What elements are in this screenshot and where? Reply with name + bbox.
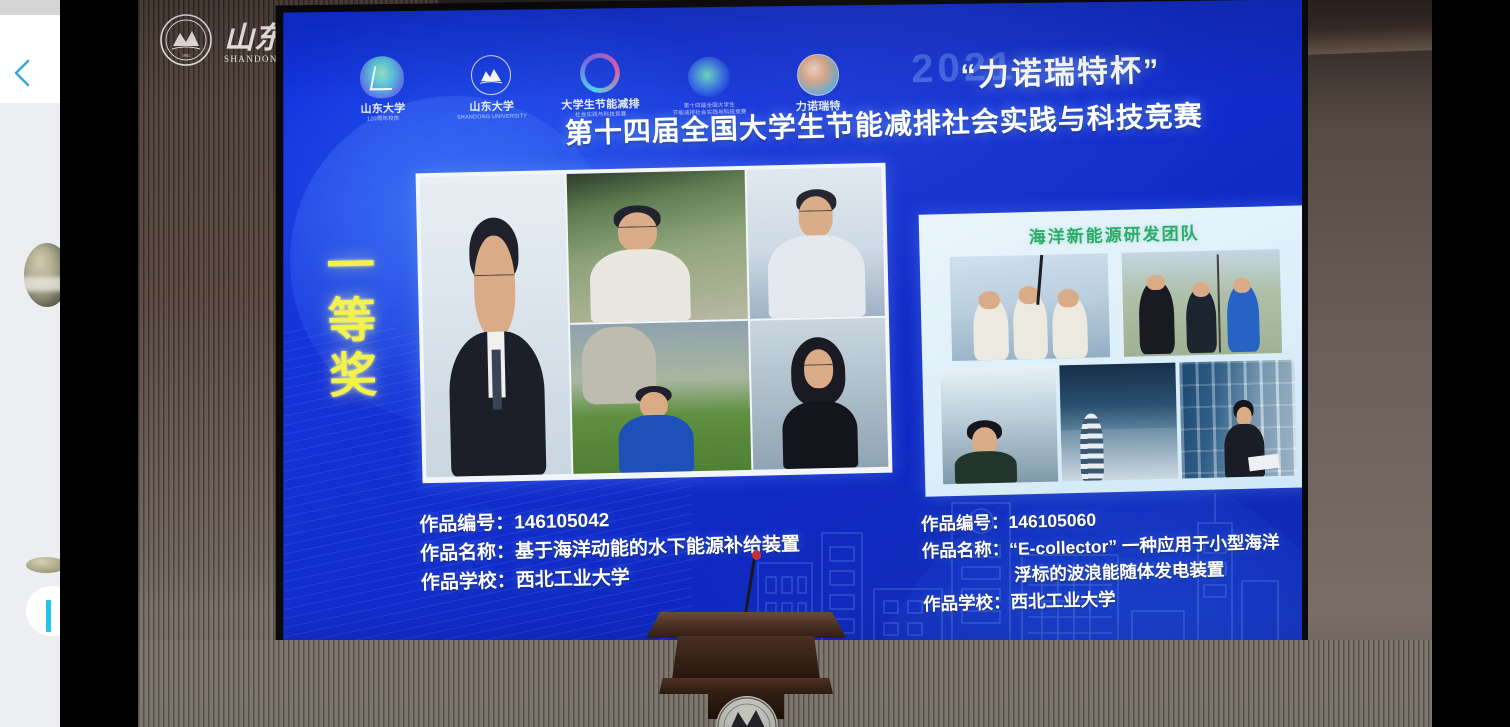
caption-value: 西北工业大学 — [515, 564, 630, 596]
room-photograph: 1901 山东大学 SHANDONG UNIVERSITY — [138, 0, 1432, 727]
collage-photo — [570, 321, 751, 474]
logo-item: 大学生节能减排 社会实践与科技竞赛 — [557, 49, 643, 119]
presentation-slide: 山东大学 120周年校庆 山东大学 — [272, 0, 1302, 695]
entry-caption-right: 作品编号： 146105060 作品名称： “E-collector” 一种应用… — [921, 501, 1302, 618]
podium — [646, 592, 846, 727]
logo-caption: 山东大学 120周年校庆 — [360, 103, 405, 123]
team-title: 海洋新能源研发团队 — [927, 216, 1301, 250]
competition-mark-logo-icon — [685, 54, 732, 101]
collage-photo — [940, 366, 1058, 485]
screenshot-root: 1901 山东大学 SHANDONG UNIVERSITY — [0, 0, 1510, 727]
podium-front-panel — [672, 636, 820, 680]
prize-char: 奖 — [329, 352, 378, 402]
caption-label: 作品编号： — [921, 509, 1009, 538]
prize-label: 一 等 奖 — [326, 243, 377, 403]
caption-label: 作品编号： — [419, 510, 515, 541]
cup-name-title: “力诺瑞特杯” — [829, 41, 1292, 99]
right-photo-collage: 海洋新能源研发团队 — [919, 205, 1302, 496]
entry-caption-left: 作品编号： 146105042 作品名称： 基于海洋动能的水下能源补给装置 作品… — [419, 500, 881, 599]
thumbnail-image[interactable] — [26, 557, 60, 573]
collage-photo — [1060, 363, 1178, 482]
logo-item: 山东大学 120周年校庆 — [340, 53, 426, 123]
text-cursor-icon — [46, 600, 51, 632]
prize-char: 一 — [326, 243, 375, 293]
logo-caption-cn: 山东大学 — [360, 103, 405, 116]
mobile-app-strip — [0, 0, 60, 727]
caption-label: 作品名称： — [420, 538, 516, 569]
sdu-120-anniversary-logo-icon — [359, 54, 406, 101]
collage-photo — [1122, 249, 1282, 357]
logo-caption-sub: SHANDONG UNIVERSITY — [457, 113, 527, 121]
sdu-emblem-logo-icon — [468, 52, 515, 99]
caption-label: 作品学校： — [923, 589, 1011, 618]
collage-photo — [567, 170, 748, 323]
logo-item: 山东大学 SHANDONG UNIVERSITY — [448, 51, 534, 121]
navigation-bar — [0, 15, 60, 103]
slide-title-block: 2021 “力诺瑞特杯” 第十四届全国大学生节能减排社会实践与科技竞赛 — [771, 41, 1293, 146]
energy-saving-ring-logo-icon — [577, 50, 624, 97]
prize-char: 等 — [327, 297, 376, 347]
collage-photo — [746, 167, 884, 319]
back-chevron-icon[interactable] — [11, 57, 33, 89]
microphone-head-icon — [752, 550, 761, 560]
letterbox-bar-left — [60, 0, 138, 727]
collage-photo — [1179, 360, 1297, 479]
caption-value: 146105060 — [1008, 507, 1096, 536]
logo-caption-sub: 120周年校庆 — [361, 115, 406, 122]
caption-label: 作品名称： — [921, 536, 1009, 565]
status-bar — [0, 0, 60, 15]
left-photo-collage — [416, 163, 893, 484]
caption-label: 作品学校： — [420, 567, 516, 598]
podium-top-surface — [646, 612, 846, 638]
collage-photo — [750, 318, 888, 470]
collage-photo — [420, 174, 572, 477]
svg-text:1901: 1901 — [182, 53, 190, 58]
caption-value: 西北工业大学 — [1010, 586, 1116, 615]
logo-caption: 山东大学 SHANDONG UNIVERSITY — [457, 100, 527, 120]
caption-value: 146105042 — [514, 507, 610, 538]
letterbox-bar-right — [1432, 0, 1510, 727]
collage-photo — [950, 253, 1110, 361]
